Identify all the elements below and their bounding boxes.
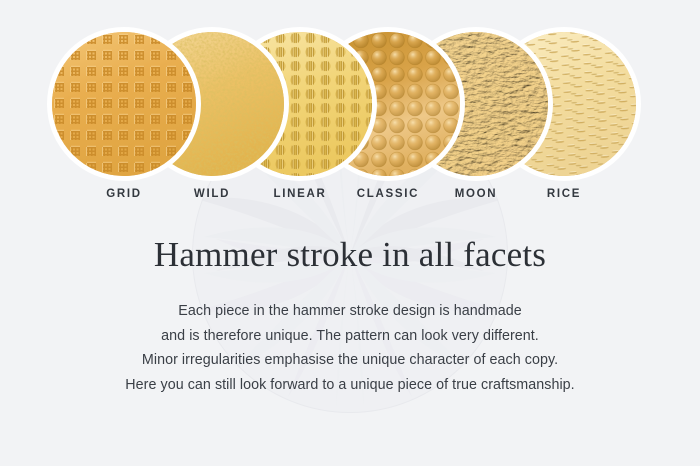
description-paragraph: Each piece in the hammer stroke design i… [0,299,700,397]
paragraph-line: Here you can still look forward to a uni… [0,373,700,398]
paragraph-line: Each piece in the hammer stroke design i… [0,299,700,324]
page-title: Hammer stroke in all facets [0,235,700,275]
swatch-label-rice: RICE [504,188,624,200]
texture-grid-crosshatch [52,32,196,176]
swatch-circle [52,32,196,176]
paragraph-line: and is therefore unique. The pattern can… [0,324,700,349]
paragraph-line: Minor irregularities emphasise the uniqu… [0,348,700,373]
swatch-strip [0,32,700,180]
